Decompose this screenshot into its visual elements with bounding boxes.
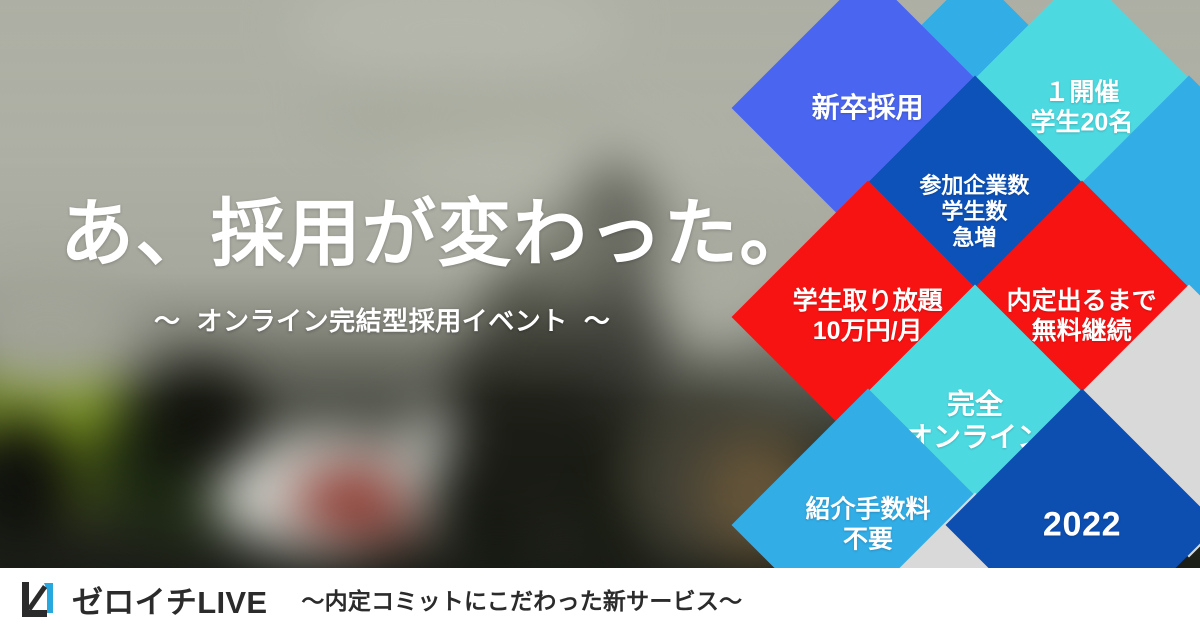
hero-headline: あ、採用が変わった。	[60, 196, 780, 273]
banner: あ、採用が変わった。 ～オンライン完結型採用イベント～ 新卒採用１開催学生20名…	[0, 0, 1200, 630]
tile-growth-label: 参加企業数学生数急増	[920, 173, 1030, 251]
hero-copy: あ、採用が変わった。 ～オンライン完結型採用イベント～	[60, 196, 780, 338]
hero-subhead-text: オンライン完結型採用イベント	[197, 306, 568, 336]
hero-subhead: ～オンライン完結型採用イベント～	[138, 301, 780, 338]
footer-bar: ゼロイチLIVE ～内定コミットにこだわった新サービス～	[0, 568, 1200, 630]
tile-new-grad-label: 新卒採用	[812, 91, 924, 124]
tile-no-referral-fee-label: 紹介手数料不要	[805, 495, 930, 554]
tilde-left: ～	[138, 306, 197, 336]
tile-fully-online-label: 完全オンライン	[905, 388, 1045, 454]
footer-tagline: ～内定コミットにこだわった新サービス～	[301, 582, 742, 616]
tile-year-label: 2022	[1043, 505, 1121, 545]
tile-one-session-label: １開催学生20名	[1031, 79, 1134, 138]
zeroichi-logo-icon	[18, 579, 60, 619]
brand-name: ゼロイチLIVE	[72, 577, 267, 622]
tilde-right: ～	[568, 306, 627, 336]
